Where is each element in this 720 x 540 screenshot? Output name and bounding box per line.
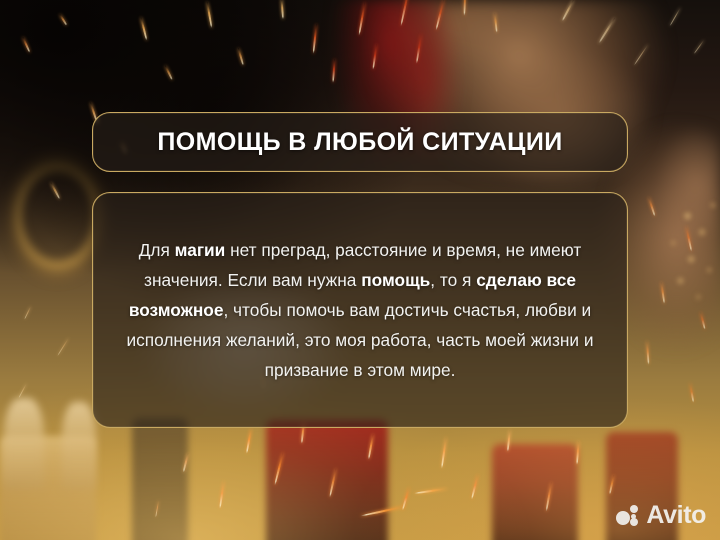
spark-streak: [206, 1, 212, 28]
body-emphasis: магии: [175, 240, 226, 260]
spark-streak: [648, 197, 656, 217]
spark-streak: [402, 487, 410, 511]
body-run: , то я: [430, 270, 476, 290]
spark-streak: [471, 474, 479, 500]
spark-streak: [414, 488, 448, 495]
spark-streak: [661, 282, 666, 304]
spark-streak: [562, 0, 575, 22]
spark-streak: [669, 7, 681, 27]
spark-streak: [464, 0, 467, 16]
body-emphasis: помощь: [361, 270, 430, 290]
avito-wordmark: Avito: [646, 503, 706, 528]
background-taper-candle-two: [62, 402, 96, 490]
spark-streak: [358, 2, 366, 36]
spark-streak: [18, 383, 27, 399]
spark-streak: [313, 24, 318, 54]
spark-streak: [165, 65, 173, 80]
title-card: ПОМОЩЬ В ЛЮБОЙ СИТУАЦИИ: [92, 112, 628, 172]
body-card: Для магии нет преград, расстояние и врем…: [92, 192, 628, 428]
spark-streak: [50, 182, 60, 200]
spark-streak: [435, 0, 444, 31]
spark-streak: [246, 428, 252, 454]
background-candle-dark-left: [132, 418, 188, 540]
spark-streak: [494, 13, 498, 33]
spark-streak: [416, 34, 422, 64]
body-run: Для: [139, 240, 175, 260]
spark-streak: [24, 306, 32, 320]
spark-streak: [332, 59, 335, 83]
avito-circles-icon: [616, 505, 641, 527]
spark-streak: [685, 226, 692, 252]
page-title: ПОМОЩЬ В ЛЮБОЙ СИТУАЦИИ: [157, 128, 562, 157]
spark-streak: [238, 48, 244, 66]
spark-streak: [57, 337, 70, 356]
banner-canvas: ПОМОЩЬ В ЛЮБОЙ СИТУАЦИИ Для магии нет пр…: [0, 0, 720, 540]
body-paragraph: Для магии нет преград, расстояние и врем…: [119, 235, 601, 385]
spark-streak: [59, 14, 67, 26]
spark-streak: [372, 44, 377, 70]
background-taper-candle-one: [4, 398, 44, 490]
spark-streak: [281, 0, 284, 19]
spark-streak: [693, 39, 705, 54]
spark-streak: [22, 37, 30, 53]
spark-streak: [700, 312, 706, 330]
spark-streak: [646, 341, 649, 365]
spark-streak: [598, 18, 615, 44]
spark-streak: [140, 17, 147, 41]
spark-streak: [441, 437, 447, 469]
background-candle-red-right: [492, 444, 578, 540]
background-candle-red-center: [266, 420, 388, 540]
spark-streak: [219, 481, 225, 509]
avito-watermark: Avito: [616, 503, 706, 528]
spark-streak: [690, 383, 695, 403]
spark-streak: [633, 44, 649, 66]
spark-streak: [400, 0, 410, 27]
